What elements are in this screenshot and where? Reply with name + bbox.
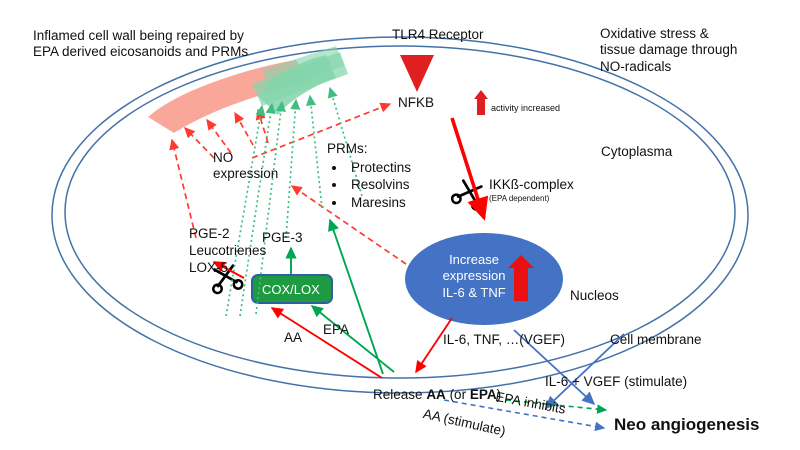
tlr4-receptor-icon <box>400 55 434 92</box>
nucleus-text: Increase expression IL-6 & TNF <box>428 252 520 301</box>
ikk-complex-label: IKKß-complex <box>489 177 574 193</box>
leucotrienes-label: Leucotrienes <box>189 243 266 259</box>
release-prefix: Release <box>373 387 426 402</box>
nfkb-up-arrow-icon <box>474 90 488 115</box>
release-aa: AA <box>426 387 446 402</box>
prm-item-maresins: Maresins <box>347 194 411 211</box>
release-mid: (or <box>446 387 470 402</box>
neo-angiogenesis-label: Neo angiogenesis <box>614 415 759 436</box>
lox5-label: LOX-5 <box>189 260 228 276</box>
il6-vgef-stimulate-label: IL-6 + VGEF (stimulate) <box>545 374 687 390</box>
epa-label: EPA <box>323 322 349 338</box>
aa-label: AA <box>284 330 302 346</box>
cytoplasma-label: Cytoplasma <box>601 144 672 160</box>
nfkb-label: NFKB <box>398 95 434 111</box>
prms-title-label: PRMs: <box>327 141 368 157</box>
inflamed-wall-caption: Inflamed cell wall being repaired by EPA… <box>33 28 333 61</box>
ikk-complex-sub-label: (EPA dependent) <box>489 194 549 204</box>
il6-tnf-vgef-label: IL-6, TNF, …(VGEF) <box>443 332 565 348</box>
prms-list: Protectins Resolvins Maresins <box>333 159 411 211</box>
no-expression-label: NO expression <box>213 150 278 183</box>
prm-item-resolvins: Resolvins <box>347 176 411 193</box>
cell-membrane-label: Cell membrane <box>610 332 702 348</box>
pge2-label: PGE-2 <box>189 226 230 242</box>
activity-increased-label: activity increased <box>491 103 560 114</box>
nucleos-label: Nucleos <box>570 288 619 304</box>
prm-item-protectins: Protectins <box>347 159 411 176</box>
release-epa: EPA <box>470 387 497 402</box>
coxlox-label: COX/LOX <box>262 282 320 298</box>
tlr4-label: TLR4 Receptor <box>392 27 484 43</box>
oxidative-stress-label: Oxidative stress & tissue damage through… <box>600 26 790 75</box>
diagram-canvas: Inflamed cell wall being repaired by EPA… <box>0 0 800 450</box>
pge3-label: PGE-3 <box>262 230 303 246</box>
